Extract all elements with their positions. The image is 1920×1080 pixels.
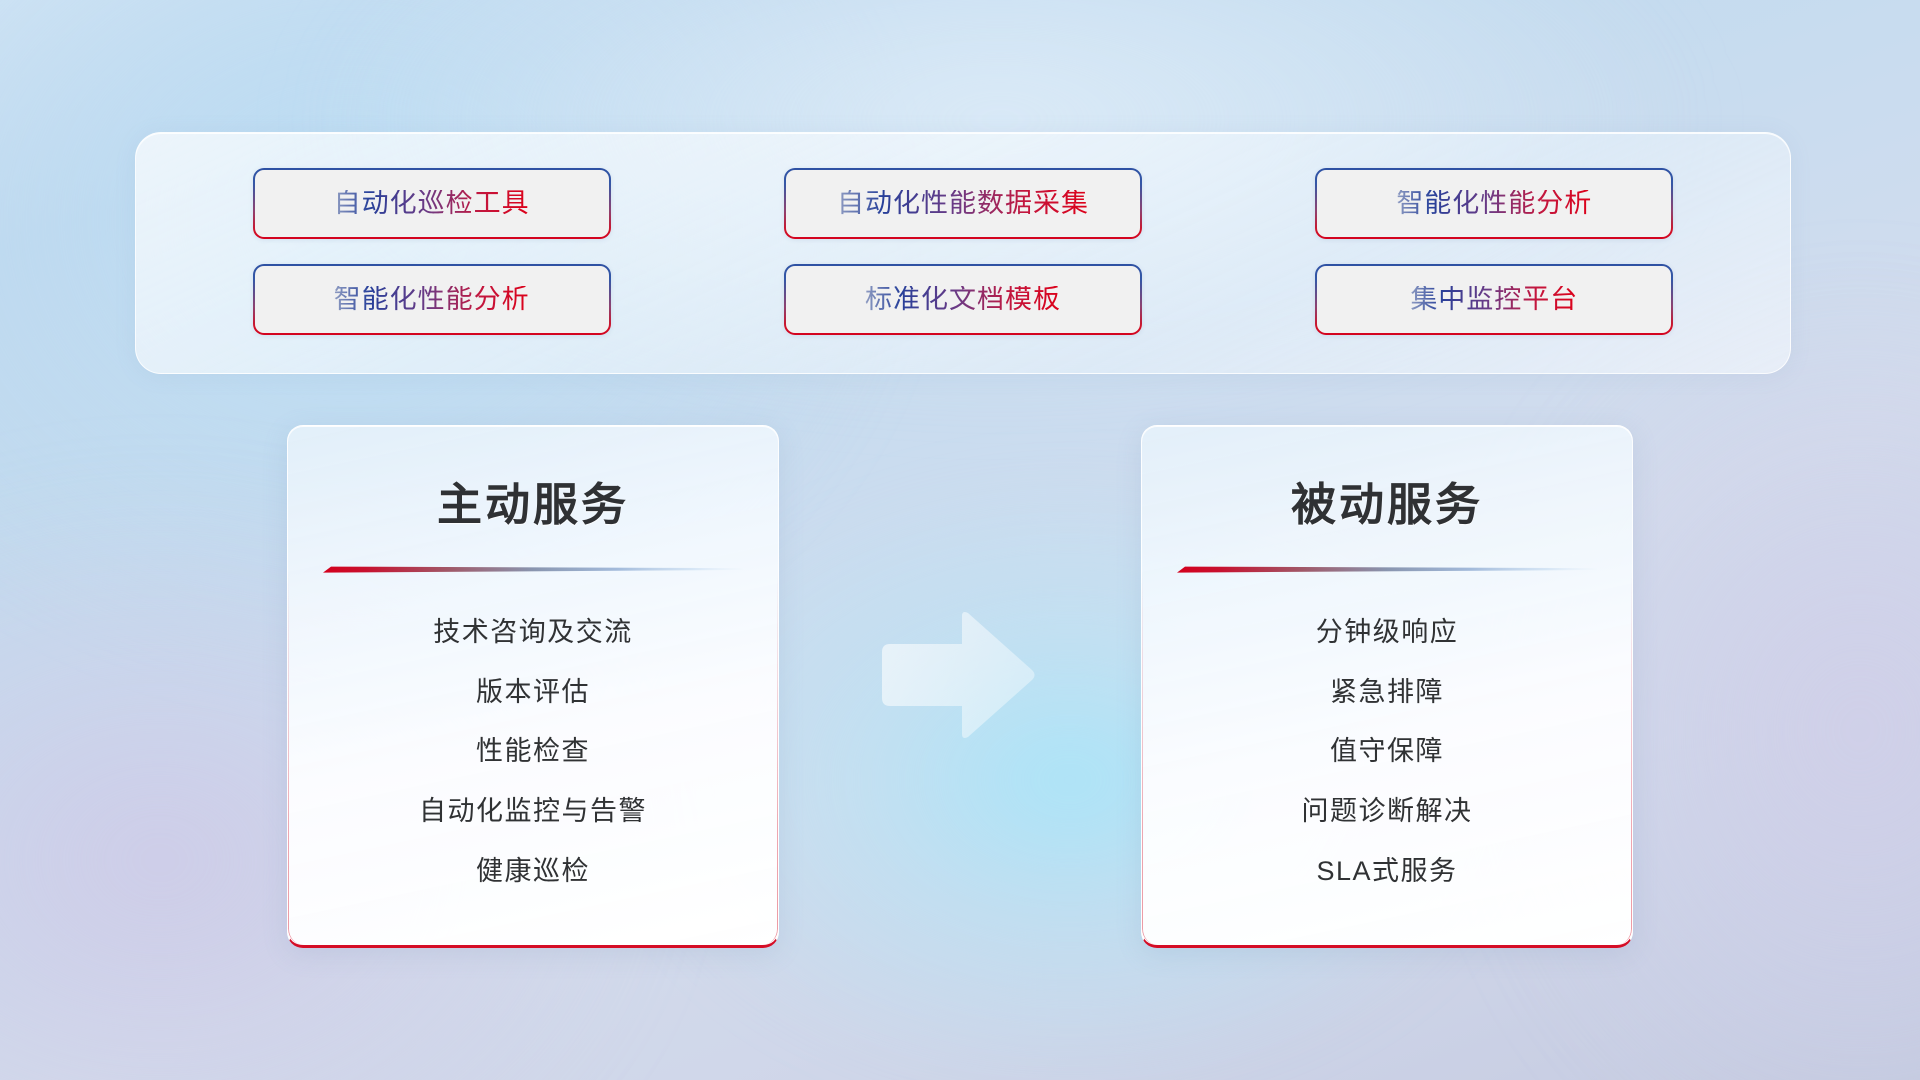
capability-chip-label: 智能化性能分析 <box>1396 190 1592 217</box>
service-list-item[interactable]: 分钟级响应 <box>1142 603 1632 663</box>
capability-chip-grid: 自动化巡检工具 自动化性能数据采集 智能化性能分析 智能化性能分析 <box>136 133 1790 373</box>
capability-chip[interactable]: 标准化文档模板 <box>784 264 1142 335</box>
service-card-title: 被动服务 <box>1142 468 1632 533</box>
title-divider <box>323 565 743 573</box>
capability-chip-body: 自动化巡检工具 <box>255 170 609 237</box>
capability-chip[interactable]: 智能化性能分析 <box>253 264 611 335</box>
capability-chip[interactable]: 集中监控平台 <box>1315 264 1673 335</box>
capability-chip-label: 自动化巡检工具 <box>334 190 530 217</box>
capability-panel: 自动化巡检工具 自动化性能数据采集 智能化性能分析 智能化性能分析 <box>135 132 1791 374</box>
service-card-title: 主动服务 <box>288 468 778 533</box>
service-list-item[interactable]: 值守保障 <box>1142 722 1632 782</box>
title-divider <box>1177 565 1597 573</box>
capability-chip-body: 标准化文档模板 <box>786 266 1140 333</box>
service-list-item[interactable]: 版本评估 <box>288 663 778 723</box>
service-card-active[interactable]: 主动服务 技术咨询及交流 版本评估 <box>287 425 779 948</box>
capability-chip[interactable]: 智能化性能分析 <box>1315 168 1673 239</box>
capability-chip-label: 标准化文档模板 <box>865 286 1061 313</box>
capability-chip-body: 智能化性能分析 <box>255 266 609 333</box>
service-item-list: 分钟级响应 紧急排障 值守保障 问题诊断解决 SLA式服务 <box>1142 603 1632 901</box>
capability-chip-label: 自动化性能数据采集 <box>837 190 1089 217</box>
service-list-item[interactable]: SLA式服务 <box>1142 842 1632 902</box>
service-list-item[interactable]: 性能检查 <box>288 722 778 782</box>
capability-chip-body: 集中监控平台 <box>1317 266 1671 333</box>
capability-chip-body: 智能化性能分析 <box>1317 170 1671 237</box>
service-list-item[interactable]: 问题诊断解决 <box>1142 782 1632 842</box>
service-list-item[interactable]: 紧急排障 <box>1142 663 1632 723</box>
service-list-item[interactable]: 自动化监控与告警 <box>288 782 778 842</box>
service-list-item[interactable]: 健康巡检 <box>288 842 778 902</box>
service-card-passive[interactable]: 被动服务 分钟级响应 紧急排障 <box>1141 425 1633 948</box>
capability-chip[interactable]: 自动化性能数据采集 <box>784 168 1142 239</box>
service-list-item[interactable]: 技术咨询及交流 <box>288 603 778 663</box>
capability-chip-label: 智能化性能分析 <box>334 286 530 313</box>
arrow-right-icon <box>876 610 1036 740</box>
capability-chip-label: 集中监控平台 <box>1410 286 1578 313</box>
service-item-list: 技术咨询及交流 版本评估 性能检查 自动化监控与告警 健康巡检 <box>288 603 778 901</box>
capability-chip-body: 自动化性能数据采集 <box>786 170 1140 237</box>
capability-chip[interactable]: 自动化巡检工具 <box>253 168 611 239</box>
slide-canvas: 自动化巡检工具 自动化性能数据采集 智能化性能分析 智能化性能分析 <box>0 0 1920 1080</box>
